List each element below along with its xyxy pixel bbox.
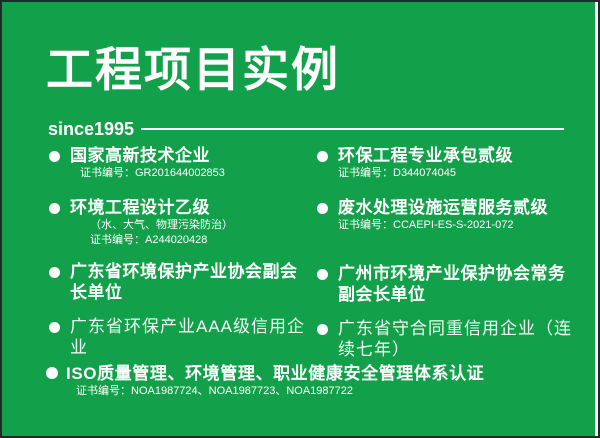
certificate-number: 证书编号：D344074045 [338, 166, 582, 181]
filled-circle-icon [49, 203, 60, 214]
credential-title: 广东省环境保护产业协会副会长单位 [70, 261, 314, 303]
credential-title: 广东省环保产业AAA级信用企业 [70, 316, 314, 358]
filled-circle-icon [49, 151, 60, 162]
credential-title: 广东省守合同重信用企业（连续七年） [338, 318, 582, 360]
credentials-left-column: 国家高新技术企业 证书编号：GR201644002853 环境工程设计乙级 （水… [46, 145, 314, 366]
iso-certification-row: ISO质量管理、环境管理、职业健康安全管理体系认证 证书编号：NOA198772… [46, 363, 562, 399]
page-title: 工程项目实例 [46, 44, 340, 96]
list-item: 环保工程专业承包贰级 证书编号：D344074045 [314, 145, 582, 181]
filled-circle-icon [49, 322, 60, 333]
credential-title: 环保工程专业承包贰级 [338, 145, 582, 166]
filled-circle-icon [317, 203, 328, 214]
filled-circle-icon [317, 269, 328, 280]
filled-circle-icon [49, 267, 60, 278]
list-item: 广东省环境保护产业协会副会长单位 [46, 261, 314, 303]
credential-title: ISO质量管理、环境管理、职业健康安全管理体系认证 [66, 363, 562, 384]
since-row: since1995 [48, 117, 564, 141]
list-item: 广东省守合同重信用企业（连续七年） [314, 318, 582, 360]
right-edge-sliver [595, 2, 598, 438]
filled-circle-icon [317, 324, 328, 335]
certificate-number: 证书编号：NOA1987724、NOA1987723、NOA1987722 [66, 384, 562, 399]
filled-circle-icon [46, 367, 58, 379]
list-item: 国家高新技术企业 证书编号：GR201644002853 [46, 145, 314, 181]
filled-circle-icon [317, 151, 328, 162]
credential-title: 广州市环境产业保护协会常务副会长单位 [338, 263, 582, 305]
credential-scope: （水、大气、物理污染防治） [70, 218, 314, 233]
horizontal-divider [141, 128, 564, 130]
certificate-number: 证书编号：CCAEPI-ES-S-2021-072 [338, 218, 582, 233]
credentials-right-column: 环保工程专业承包贰级 证书编号：D344074045 废水处理设施运营服务贰级 … [314, 145, 582, 368]
since-label: since1995 [48, 119, 134, 140]
credential-title: 环境工程设计乙级 [70, 197, 314, 218]
list-item: 广州市环境产业保护协会常务副会长单位 [314, 263, 582, 305]
list-item: 广东省环保产业AAA级信用企业 [46, 316, 314, 358]
list-item: 环境工程设计乙级 （水、大气、物理污染防治） 证书编号：A244020428 [46, 197, 314, 248]
credential-title: 国家高新技术企业 [70, 145, 314, 166]
list-item: 废水处理设施运营服务贰级 证书编号：CCAEPI-ES-S-2021-072 [314, 197, 582, 233]
credential-title: 废水处理设施运营服务贰级 [338, 197, 582, 218]
certificate-number: 证书编号：GR201644002853 [70, 166, 314, 181]
certificate-number: 证书编号：A244020428 [70, 233, 314, 248]
certification-poster: 工程项目实例 since1995 国家高新技术企业 证书编号：GR2016440… [0, 0, 600, 438]
